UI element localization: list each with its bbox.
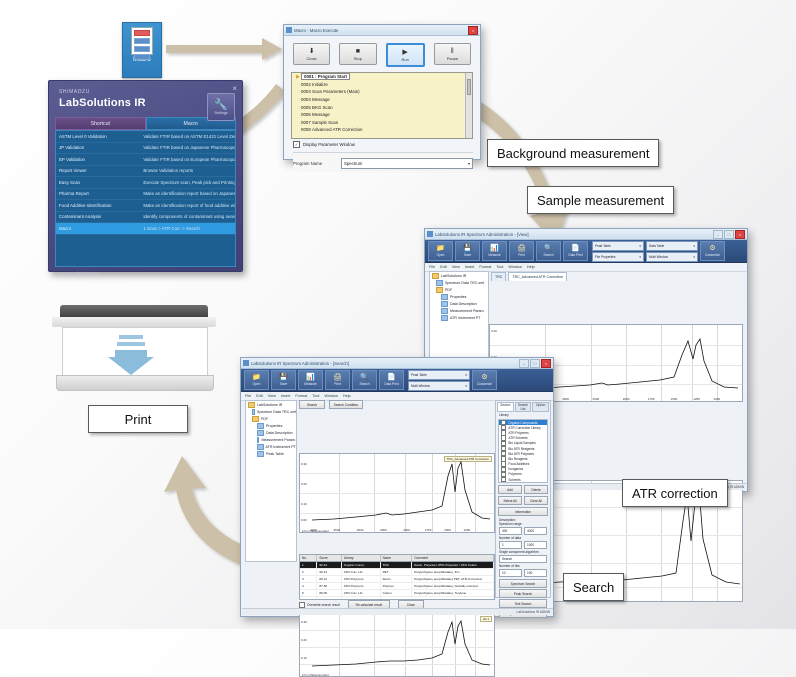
tree-node[interactable]: PDF xyxy=(246,415,296,422)
x-axis-label: 1/cm (Wavenumber) xyxy=(302,529,329,533)
x-tick: 1500 xyxy=(671,397,678,401)
folder-icon: 📁 xyxy=(252,374,261,381)
macro-desc: Browse Validation reports xyxy=(140,168,235,173)
folder-icon xyxy=(252,416,259,422)
atr-titlebar[interactable]: LabSolutions IR Spectrum Administration … xyxy=(425,229,747,240)
step-number: 0008 xyxy=(301,127,311,132)
library-list-caption: Library xyxy=(496,413,550,417)
display-parameter-window-checkbox[interactable]: ✓ Display Parameter Window xyxy=(284,139,480,148)
tree-node[interactable]: PDF xyxy=(430,286,488,293)
macro-name: Pharma Report xyxy=(56,191,140,196)
stop-glyph-icon: ■ xyxy=(356,48,360,55)
macro-desc: Validate FTIR based on European Pharmaco… xyxy=(140,157,235,162)
file-icon xyxy=(441,301,448,307)
pause-glyph-icon: ‖ xyxy=(451,48,454,55)
combo-value: Multi Window xyxy=(411,384,430,388)
library-panel[interactable]: Search Search List Option Library Organi… xyxy=(495,400,551,598)
range-to-field[interactable]: 4000 xyxy=(524,527,547,535)
spectrum-search-button[interactable]: Spectrum Search xyxy=(499,579,547,588)
menu-tool[interactable]: Tool xyxy=(496,265,503,269)
chevron-down-icon: ▾ xyxy=(639,244,641,248)
tab-shortcut[interactable]: Shortcut xyxy=(55,117,146,130)
file-icon xyxy=(257,451,264,457)
search-chart-sample[interactable]: TRC_Advanced ATR Correction 0.30 0.20 0.… xyxy=(299,453,495,533)
chevron-down-icon: ▾ xyxy=(693,255,695,259)
chevron-down-icon: ▾ xyxy=(693,244,695,248)
chart-icon: 📊 xyxy=(490,245,499,252)
combo-value: Data Table xyxy=(649,244,664,248)
toolbar-combo-peak-table[interactable]: Peak Table▾ xyxy=(408,370,470,380)
tree-node[interactable]: Data Description xyxy=(430,300,488,307)
menu-insert[interactable]: Insert xyxy=(281,394,291,398)
toolbar-combo-multi-window[interactable]: Multi Window▾ xyxy=(408,381,470,391)
close-glyph-icon: ⬇ xyxy=(309,48,315,55)
x-tick: 1750 xyxy=(425,528,432,532)
search-icon: 🔍 xyxy=(544,245,553,252)
data-print-button[interactable]: 📄Data Print xyxy=(379,370,404,390)
macro-desc: Execute Spectrum scan, Peak pick and Pri… xyxy=(140,180,235,185)
program-name-dropdown[interactable]: Spectrum ▾ xyxy=(341,158,473,169)
menu-edit[interactable]: Edit xyxy=(440,265,447,269)
measure-label: Measure xyxy=(304,382,316,386)
list-item[interactable]: 0007 Sample Scan xyxy=(292,119,472,127)
x-tick: 3000 xyxy=(357,528,364,532)
open-button[interactable]: 📁Open xyxy=(428,241,453,261)
x-tick: 2000 xyxy=(403,528,410,532)
menu-tool[interactable]: Tool xyxy=(312,394,319,398)
list-item[interactable]: Food Additive IdentificationMake an iden… xyxy=(56,200,235,212)
search-titlebar[interactable]: LabSolutions IR Spectrum Administration … xyxy=(241,358,553,369)
close-icon[interactable]: × xyxy=(468,26,478,35)
minimize-icon[interactable]: – xyxy=(713,230,723,239)
maximize-icon[interactable]: □ xyxy=(530,359,540,368)
folder-icon xyxy=(436,287,443,293)
macro-desc: Make an identification report of food ad… xyxy=(140,203,235,208)
list-item[interactable]: 0002 Initialize xyxy=(292,81,472,89)
pause-button-label: Pause xyxy=(447,56,458,61)
macro-desc: 1 Scan > ATR Corr. > Search xyxy=(140,226,235,231)
macro-desc: Validate FTIR based on Japanese Pharmaco… xyxy=(140,145,235,150)
checkbox-check-icon: ✓ xyxy=(293,141,300,148)
x-tick: 1250 xyxy=(693,397,700,401)
close-icon[interactable]: × xyxy=(735,230,745,239)
measure-button[interactable]: 📊Measure xyxy=(482,241,507,261)
tab-trc-advanced-atr[interactable]: TRC_Advanced ATR Correction xyxy=(508,272,567,281)
callout-background-measurement: Background measurement xyxy=(487,139,659,167)
launcher-header: × SHIMADZU LabSolutions IR 🔧 Settings xyxy=(49,81,242,111)
list-item[interactable]: 0005 BKG Scan xyxy=(292,103,472,111)
open-label: Open xyxy=(253,382,261,386)
step-name: Scan Parameters (Main) xyxy=(312,89,360,94)
combo-value: Peak Table xyxy=(411,373,427,377)
macro-name: JP Validation xyxy=(56,145,140,150)
open-button[interactable]: 📁Open xyxy=(244,370,269,390)
tab-trc[interactable]: TRC xyxy=(491,272,506,281)
search-window[interactable]: LabSolutions IR Spectrum Administration … xyxy=(240,357,554,617)
range-from-field[interactable]: 400 xyxy=(499,527,522,535)
algorithm-field[interactable]: Search xyxy=(499,555,547,563)
checkbox-label: Display Parameter Window xyxy=(303,142,355,147)
print-label: Print xyxy=(334,382,341,386)
x-tick: 1500 xyxy=(444,528,451,532)
chevron-down-icon: ▾ xyxy=(639,255,641,259)
step-name: Message xyxy=(312,97,330,102)
menu-view[interactable]: View xyxy=(268,394,276,398)
step-number: 0002 xyxy=(301,82,311,87)
list-item[interactable]: 0006 Message xyxy=(292,111,472,119)
file-icon xyxy=(257,430,264,436)
data-print-label: Data Print xyxy=(568,253,582,257)
settings-button[interactable]: 🔧 Settings xyxy=(207,93,235,121)
search-button[interactable]: 🔍Search xyxy=(352,370,377,390)
customize-label: Customize xyxy=(477,382,492,386)
step-number: 0006 xyxy=(301,112,311,117)
scrollbar-thumb[interactable] xyxy=(467,79,471,95)
print-button[interactable]: 🖨Print xyxy=(325,370,350,390)
information-button[interactable]: Information xyxy=(498,507,548,516)
menu-format[interactable]: Format xyxy=(479,265,491,269)
macro-name: Macro xyxy=(56,226,140,231)
x-tick: 2500 xyxy=(380,528,387,532)
x-tick: 3000 xyxy=(562,397,569,401)
menu-edit[interactable]: Edit xyxy=(256,394,263,398)
file-icon xyxy=(441,308,448,314)
col-no: No. xyxy=(300,555,317,561)
step-number: 0001 xyxy=(304,74,314,79)
window-controls[interactable]: – □ × xyxy=(519,359,551,368)
spectrum-trace xyxy=(300,454,494,532)
step-number: 0003 xyxy=(301,89,311,94)
macro-dialog-title: Macro - Macro Execute xyxy=(294,28,468,33)
chart-icon: 📊 xyxy=(306,374,315,381)
run-button[interactable]: ▶ Run xyxy=(386,43,425,67)
macro-name: ASTM Level 0 Validation xyxy=(56,134,140,139)
list-item[interactable]: JP ValidationValidate FTIR based on Japa… xyxy=(56,143,235,155)
x-tick: 1000 xyxy=(713,397,720,401)
file-icon xyxy=(441,315,448,321)
x-tick: 2500 xyxy=(592,397,599,401)
macro-desc: Validate FTIR based on ASTM E1421 Level … xyxy=(140,134,235,139)
step-name: Advanced ATR Correction xyxy=(312,127,362,132)
macro-name: Contaminant Analysis xyxy=(56,214,140,219)
close-icon[interactable]: × xyxy=(541,359,551,368)
menu-file[interactable]: File xyxy=(429,265,435,269)
table-row[interactable]: 487.68ATR PolymersPolymerPoly(ethylene t… xyxy=(300,583,494,590)
search-results-table[interactable]: No. Score Library Name Comment 192.31Org… xyxy=(299,554,495,600)
gear-icon: ⚙ xyxy=(709,245,715,252)
close-button-label: Close xyxy=(307,56,317,61)
data-to-field[interactable]: 1000 xyxy=(524,541,547,549)
tree-node[interactable]: Data Description xyxy=(246,429,296,436)
maximize-icon[interactable]: □ xyxy=(724,230,734,239)
print-label: Print xyxy=(518,253,525,257)
col-library: Library xyxy=(342,555,381,561)
printer-tray xyxy=(56,375,214,391)
x-tick: 3500 xyxy=(334,528,341,532)
search-label: Search xyxy=(543,253,553,257)
file-icon xyxy=(436,280,443,286)
folder-icon: 📁 xyxy=(436,245,445,252)
chevron-down-icon: ▾ xyxy=(468,161,470,166)
printer-icon: 🖨 xyxy=(333,374,342,381)
window-icon xyxy=(286,27,292,33)
printer-icon: 🖨 xyxy=(517,245,526,252)
list-item[interactable]: ASTM Level 0 ValidationValidate FTIR bas… xyxy=(56,131,235,143)
macro-desc: Make an identification report based on J… xyxy=(140,191,235,196)
overwrite-result-checkbox[interactable]: Overwrite search result xyxy=(299,602,340,608)
list-item[interactable]: ▶0001 : Program Start xyxy=(292,73,472,81)
save-label: Save xyxy=(280,382,287,386)
menu-window[interactable]: Window xyxy=(324,394,338,398)
save-button[interactable]: 💾Save xyxy=(271,370,296,390)
gear-icon: ⚙ xyxy=(481,374,487,381)
window-controls[interactable]: × xyxy=(468,26,478,35)
step-name: Sample Scan xyxy=(312,120,338,125)
window-controls[interactable]: – □ × xyxy=(713,230,745,239)
callout-search: Search xyxy=(563,573,624,601)
customize-label: Customize xyxy=(705,253,720,257)
launcher-macro-list[interactable]: ASTM Level 0 ValidationValidate FTIR bas… xyxy=(55,130,236,267)
checkbox-label: Overwrite search result xyxy=(307,603,340,607)
col-score: Score xyxy=(317,555,341,561)
menu-help[interactable]: Help xyxy=(343,394,351,398)
tree-node[interactable]: Peak Table xyxy=(246,450,296,457)
folder-icon xyxy=(432,273,439,279)
list-item[interactable]: 0004 Message xyxy=(292,96,472,104)
pause-button[interactable]: ‖ Pause xyxy=(434,43,471,65)
status-text: LabSolutions IR ADMIN xyxy=(517,610,550,614)
algorithm-label: Single component algorithm xyxy=(496,550,550,554)
file-icon xyxy=(257,423,264,429)
list-item[interactable]: EP ValidationValidate FTIR based on Euro… xyxy=(56,154,235,166)
window-icon xyxy=(427,231,433,237)
view-search-condition-button[interactable]: Search Condition xyxy=(329,400,363,409)
text-search-button[interactable]: Text Search xyxy=(499,599,547,608)
callout-sample-measurement: Sample measurement xyxy=(527,186,674,214)
tab-option[interactable]: Option xyxy=(532,402,549,412)
combo-value: Peak Table xyxy=(595,244,611,248)
chevron-down-icon: ▾ xyxy=(465,373,467,377)
window-icon xyxy=(243,360,249,366)
table-header-row: No. Score Library Name Comment xyxy=(300,555,494,562)
tree-node[interactable]: Measurement Param. xyxy=(246,436,296,443)
file-icon xyxy=(441,294,448,300)
tab-search-list[interactable]: Search List xyxy=(515,402,532,412)
list-item[interactable]: 0003 Scan Parameters (Main) xyxy=(292,88,472,96)
delete-library-button[interactable]: Delete xyxy=(524,485,548,494)
print-button[interactable]: 🖨Print xyxy=(509,241,534,261)
menu-view[interactable]: View xyxy=(452,265,460,269)
program-name-value: Spectrum xyxy=(344,161,362,166)
data-count-label: Number of data xyxy=(496,536,550,540)
open-label: Open xyxy=(437,253,445,257)
toolbar-combo-data-table[interactable]: Data Table▾ xyxy=(646,241,698,251)
macro-name: Easy Scan xyxy=(56,180,140,185)
customize-button[interactable]: ⚙Customize xyxy=(700,241,725,261)
printer-top xyxy=(52,317,216,327)
search-statusbar: LabSolutions IR ADMIN xyxy=(242,608,553,615)
customize-button[interactable]: ⚙Customize xyxy=(472,370,497,390)
checkbox[interactable] xyxy=(299,602,305,608)
list-item[interactable]: Easy ScanExecute Spectrum scan, Peak pic… xyxy=(56,177,235,189)
hits-from-field[interactable]: 10 xyxy=(499,569,522,577)
minimize-icon[interactable]: – xyxy=(519,359,529,368)
vertical-scrollbar[interactable] xyxy=(465,73,472,138)
macro-name: Report Viewer xyxy=(56,168,140,173)
toolbar-combo-file-properties[interactable]: File Properties▾ xyxy=(592,252,644,262)
tree-node[interactable]: LabSolutions IR xyxy=(246,401,296,408)
table-row[interactable]: 586.05ATR Corr. Lib.CottonPoly(ethylene … xyxy=(300,590,494,597)
document-icon: 📄 xyxy=(387,374,396,381)
arrow-icon-to-macro xyxy=(166,38,282,60)
clear-all-button[interactable]: Clear All xyxy=(524,496,548,505)
step-name: Program Start xyxy=(318,74,347,79)
wrench-icon: 🔧 xyxy=(214,100,228,110)
settings-label: Settings xyxy=(215,111,228,115)
save-label: Save xyxy=(464,253,471,257)
search-window-title: LabSolutions IR Spectrum Administration … xyxy=(251,361,519,366)
callout-atr-correction: ATR correction xyxy=(622,479,728,507)
x-axis-label: 1/cm (Wavenumber) xyxy=(302,673,329,677)
list-item[interactable]: Contaminant AnalysisIdentify components … xyxy=(56,212,235,224)
folder-icon xyxy=(248,402,255,408)
save-button[interactable]: 💾Save xyxy=(455,241,480,261)
search-toolbar[interactable]: 📁Open 💾Save 📊Measure 🖨Print 🔍Search 📄Dat… xyxy=(241,369,553,392)
search-tree-panel[interactable]: LabSolutions IR Spectrum Data TRC.smf PD… xyxy=(245,400,297,562)
atr-window-title: LabSolutions IR Spectrum Administration … xyxy=(435,232,713,237)
launcher-close-icon[interactable]: × xyxy=(232,84,237,93)
hits-to-field[interactable]: 100 xyxy=(524,569,547,577)
launcher-footer-user: System Administrator xyxy=(49,267,242,276)
table-row[interactable]: 389.12ATR PolymersResinPoly(ethylene ter… xyxy=(300,576,494,583)
menu-window[interactable]: Window xyxy=(508,265,522,269)
col-name: Name xyxy=(381,555,413,561)
document-icon: 📄 xyxy=(571,245,580,252)
arrow-search-to-print xyxy=(164,456,250,566)
col-comment: Comment xyxy=(412,555,494,561)
macro-execute-dialog[interactable]: Macro - Macro Execute × ⬇ Close ■ Stop ▶… xyxy=(283,24,481,160)
callout-print: Print xyxy=(88,405,188,433)
macro-desc: Identify components of contaminant using… xyxy=(140,214,235,219)
select-all-button[interactable]: Select All xyxy=(498,496,522,505)
search-view-buttons[interactable]: Search Search Condition xyxy=(299,400,363,409)
tab-search[interactable]: Search xyxy=(497,402,514,412)
measure-button[interactable]: 📊Measure xyxy=(298,370,323,390)
spectrum-trace xyxy=(300,614,494,676)
tree-node[interactable]: Measurement Param. xyxy=(430,307,488,314)
x-tick: 1750 xyxy=(648,397,655,401)
stop-button[interactable]: ■ Stop xyxy=(339,43,376,65)
floppy-icon: 💾 xyxy=(463,245,472,252)
search-button[interactable]: 🔍Search xyxy=(536,241,561,261)
tree-node[interactable]: ATR Instrument PT xyxy=(430,314,488,321)
download-arrow-icon xyxy=(106,333,156,377)
play-glyph-icon: ▶ xyxy=(402,49,407,56)
atr-toolbar[interactable]: 📁Open 💾Save 📊Measure 🖨Print 🔍Search 📄Dat… xyxy=(425,240,747,263)
run-button-label: Run xyxy=(401,57,408,62)
tree-node[interactable]: Spectrum Data TRC.smf xyxy=(430,279,488,286)
data-from-field[interactable]: 1 xyxy=(499,541,522,549)
close-button[interactable]: ⬇ Close xyxy=(293,43,330,65)
menu-insert[interactable]: Insert xyxy=(465,265,475,269)
hits-label: Number of hits xyxy=(496,564,550,568)
data-print-label: Data Print xyxy=(384,382,398,386)
step-number: 0007 xyxy=(301,120,311,125)
search-icon: 🔍 xyxy=(360,374,369,381)
peak-search-button[interactable]: Peak Search xyxy=(499,589,547,598)
macro-name: EP Validation xyxy=(56,157,140,162)
checkbox[interactable] xyxy=(501,477,506,482)
floppy-icon: 💾 xyxy=(279,374,288,381)
step-number: 0005 xyxy=(301,105,311,110)
data-print-button[interactable]: 📄Data Print xyxy=(563,241,588,261)
macro-name: Food Additive Identification xyxy=(56,203,140,208)
x-tick: 1250 xyxy=(463,528,470,532)
tree-node[interactable]: Spectrum Data TRC.smf xyxy=(246,408,296,415)
tree-node[interactable]: Properties xyxy=(246,422,296,429)
macro-document-icon xyxy=(131,27,153,55)
x-tick: 2000 xyxy=(623,397,630,401)
program-name-row: Program Name Spectrum ▾ xyxy=(293,152,473,169)
tree-node[interactable]: ATR Instrument PT xyxy=(246,443,296,450)
library-tabs[interactable]: Search Search List Option xyxy=(496,401,550,413)
library-list[interactable]: Organic Compounds ATR Correction Library… xyxy=(498,419,548,483)
step-name: BKG Scan xyxy=(312,105,333,110)
stop-button-label: Stop xyxy=(354,56,362,61)
step-name: Initialize xyxy=(312,82,328,87)
printer-illustration xyxy=(50,305,218,400)
file-icon xyxy=(257,437,259,443)
search-chart-hit[interactable]: Hit 1 0.30 0.20 0.10 1/cm (Wavenumber) xyxy=(299,613,495,677)
menu-help[interactable]: Help xyxy=(527,265,535,269)
tree-node[interactable]: Properties xyxy=(430,293,488,300)
list-item[interactable]: Pharma ReportMake an identification repo… xyxy=(56,189,235,201)
step-name: Message xyxy=(312,112,330,117)
list-item[interactable]: Solvents xyxy=(499,477,547,482)
chevron-down-icon: ▾ xyxy=(465,384,467,388)
combo-value: Multi Window xyxy=(649,255,668,259)
list-item[interactable]: 0008 Advanced ATR Correction xyxy=(292,126,472,134)
tree-node[interactable]: LabSolutions IR xyxy=(430,272,488,279)
step-number: 0004 xyxy=(301,97,311,102)
add-library-button[interactable]: Add xyxy=(498,485,522,494)
atr-spectrum-tabs[interactable]: TRC TRC_Advanced ATR Correction xyxy=(489,271,567,281)
menu-file[interactable]: File xyxy=(245,394,251,398)
macro-dialog-titlebar[interactable]: Macro - Macro Execute × xyxy=(284,25,480,36)
view-search-button[interactable]: Search xyxy=(299,400,325,409)
labsolutions-launcher-window[interactable]: × SHIMADZU LabSolutions IR 🔧 Settings Sh… xyxy=(48,80,243,272)
combo-value: File Properties xyxy=(595,255,616,259)
macro-step-list[interactable]: ▶0001 : Program Start 0002 Initialize 00… xyxy=(291,72,473,139)
toolbar-combo-peak-table[interactable]: Peak Table▾ xyxy=(592,241,644,251)
menu-format[interactable]: Format xyxy=(295,394,307,398)
list-item-selected[interactable]: Macro1 Scan > ATR Corr. > Search xyxy=(56,223,235,235)
spectrum-range-label: Spectrum range xyxy=(496,522,550,526)
file-icon xyxy=(252,409,255,415)
file-icon xyxy=(257,444,264,450)
measure-label: Measure xyxy=(488,253,500,257)
list-item[interactable]: Report ViewerBrowse Validation reports xyxy=(56,166,235,178)
macro-dialog-buttons[interactable]: ⬇ Close ■ Stop ▶ Run ‖ Pause xyxy=(284,36,480,72)
program-name-label: Program Name xyxy=(293,161,335,166)
macro-launcher-icon[interactable]: Macro xyxy=(122,22,162,78)
toolbar-combo-multi-window[interactable]: Multi Window▾ xyxy=(646,252,698,262)
table-row[interactable]: 290.44ATR Corr. Lib.PETPoly(ethylene ter… xyxy=(300,569,494,576)
search-label: Search xyxy=(359,382,369,386)
table-row[interactable]: 192.31Organic Comp.TRCResin, Polyester, … xyxy=(300,562,494,569)
